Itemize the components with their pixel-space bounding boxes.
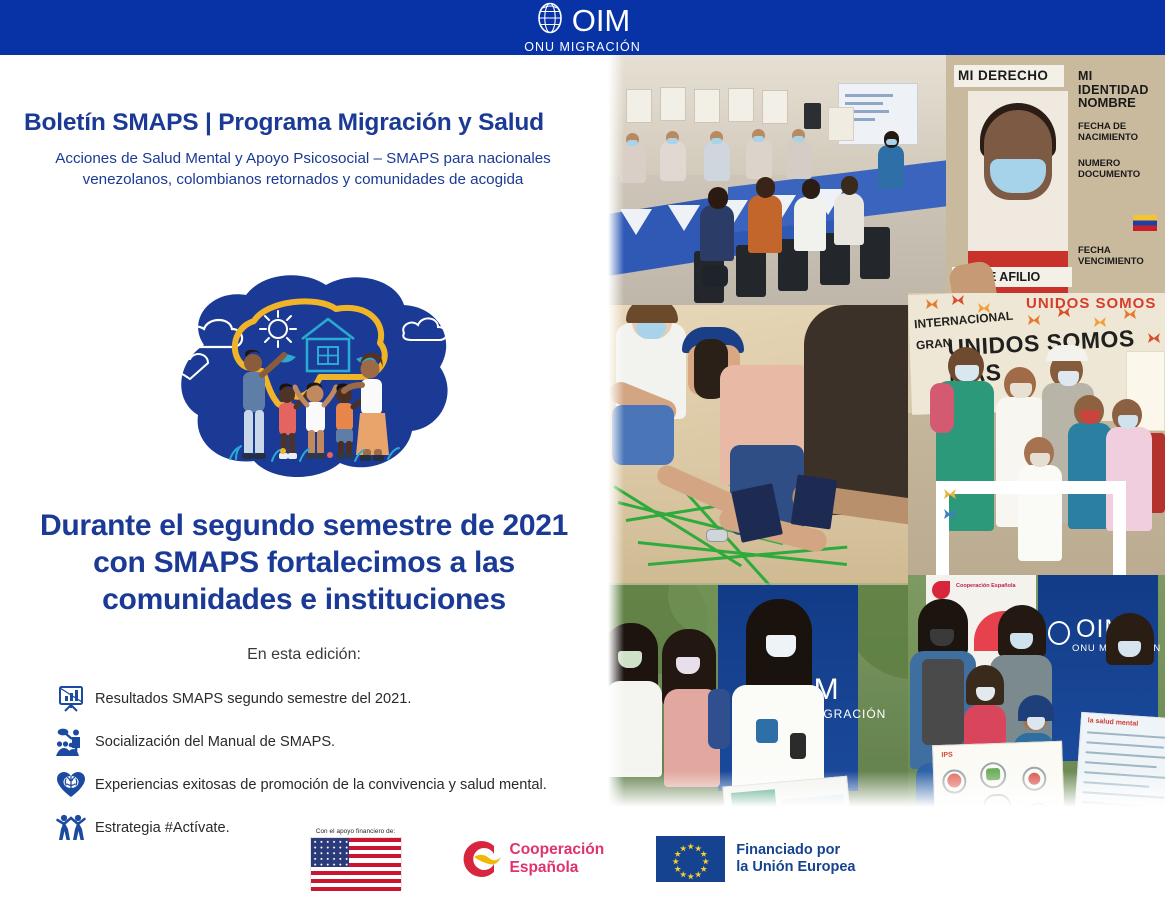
globe-icon bbox=[535, 2, 565, 39]
heart-brain-icon bbox=[56, 770, 86, 800]
sign-text-mi-derecho: MI DERECHO bbox=[958, 68, 1048, 83]
sign-text-fecha-nacimiento: FECHA DE NACIMIENTO bbox=[1078, 121, 1158, 143]
list-item: Socialización del Manual de SMAPS. bbox=[56, 720, 601, 763]
list-item-label: Experiencias exitosas de promoción de la… bbox=[95, 776, 547, 794]
eu-line-2: la Unión Europea bbox=[736, 859, 855, 876]
headline: Durante el segundo semestre de 2021 con … bbox=[16, 507, 592, 618]
left-content-column: Boletín SMAPS | Programa Migración y Sal… bbox=[0, 55, 608, 815]
eu-funding-text: Financiado por la Unión Europea bbox=[736, 842, 855, 876]
page-title: Boletín SMAPS | Programa Migración y Sal… bbox=[24, 109, 584, 137]
us-donor-logo: Con el apoyo financiero de: bbox=[310, 828, 402, 890]
sign-text-nombre: NOMBRE bbox=[1078, 95, 1136, 110]
list-item: Experiencias exitosas de promoción de la… bbox=[56, 763, 601, 806]
page-subtitle: Acciones de Salud Mental y Apoyo Psicoso… bbox=[28, 148, 578, 190]
oim-wordmark: OIM bbox=[572, 5, 631, 36]
footer-logos: Con el apoyo financiero de: bbox=[0, 818, 1165, 900]
poster-text-unidos-somos: UNIDOS SOMOS bbox=[1026, 295, 1156, 312]
photo-collage: MI DERECHO MI IDENTIDAD NOMBRE FECHA DE … bbox=[608, 55, 1165, 817]
sign-text-numero-documento: NUMERO DOCUMENTO bbox=[1078, 158, 1162, 180]
support-caption: Con el apoyo financiero de: bbox=[316, 828, 395, 835]
sign-text-mi-identidad: MI IDENTIDAD bbox=[1078, 69, 1165, 97]
list-item-label: Socialización del Manual de SMAPS. bbox=[95, 733, 335, 751]
banner-text-cooperacion-espanola: Cooperación Española bbox=[956, 583, 1016, 590]
us-flag-icon bbox=[310, 837, 402, 890]
page-header: OIM ONU MIGRACIÓN bbox=[0, 0, 1165, 55]
eu-flag-icon bbox=[656, 836, 725, 882]
oim-logo: OIM ONU MIGRACIÓN bbox=[524, 2, 640, 54]
ce-line-2: Española bbox=[510, 859, 605, 877]
presenter-audience-icon bbox=[56, 727, 86, 757]
list-item: Resultados SMAPS segundo semestre del 20… bbox=[56, 677, 601, 720]
oim-subtitle: ONU MIGRACIÓN bbox=[524, 40, 640, 54]
photo-string-activity bbox=[608, 305, 926, 605]
photo-family-frame: INTERNACIONAL GRAN UNIDOS SOMOS UNIDOS S… bbox=[908, 293, 1165, 623]
cooperacion-espanola-icon bbox=[454, 835, 502, 883]
cooperacion-espanola-text: Cooperación Española bbox=[510, 841, 605, 877]
edition-label: En esta edición: bbox=[16, 645, 592, 665]
family-thought-bubble-illustration bbox=[150, 267, 470, 489]
flipchart-chart-icon bbox=[56, 684, 86, 714]
list-item-label: Resultados SMAPS segundo semestre del 20… bbox=[95, 690, 411, 708]
photo-meeting-room bbox=[608, 55, 968, 317]
eu-line-1: Financiado por bbox=[736, 842, 855, 859]
eu-funding-logo: Financiado por la Unión Europea bbox=[656, 836, 855, 882]
cooperacion-espanola-logo: Cooperación Española bbox=[454, 835, 605, 883]
ce-line-1: Cooperación bbox=[510, 841, 605, 859]
sign-text-fecha-vencimiento: FECHA VENCIMIENTO bbox=[1078, 245, 1158, 267]
